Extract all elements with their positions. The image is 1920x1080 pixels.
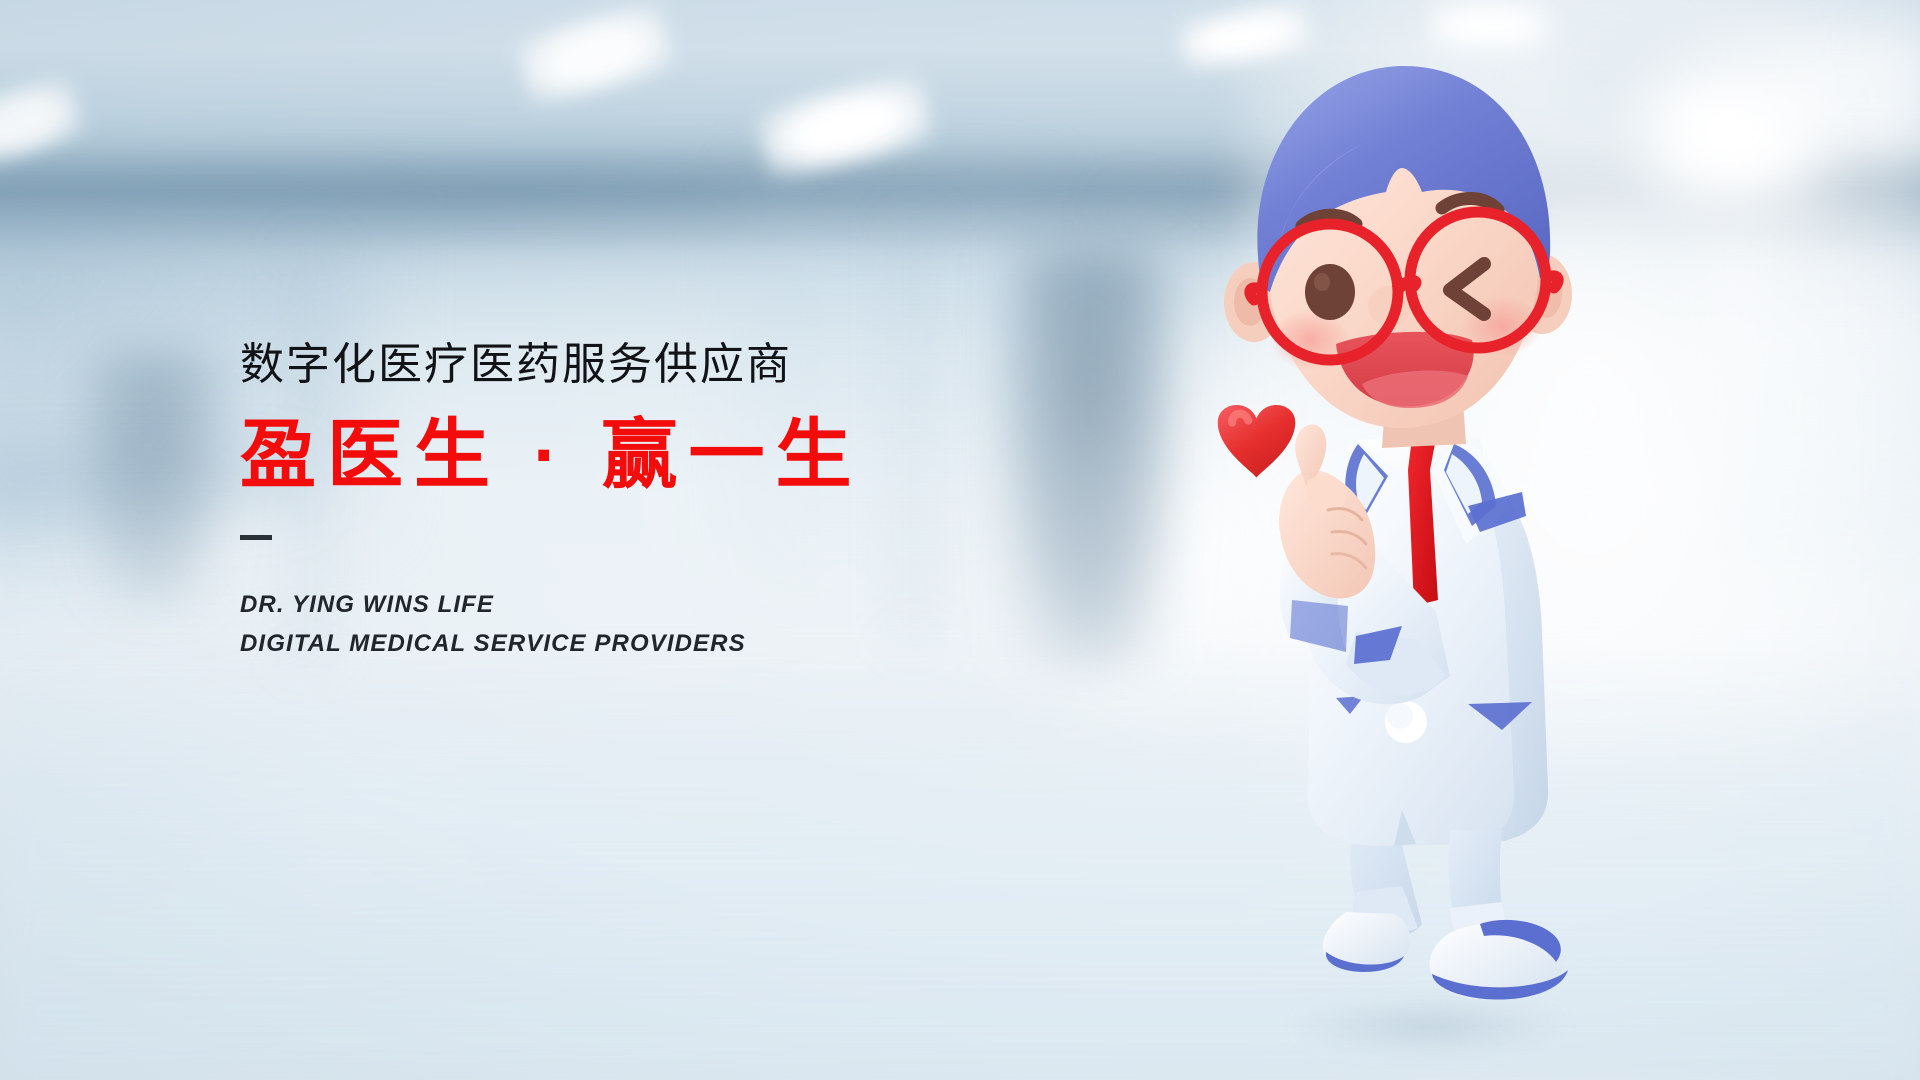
banner-divider-rule xyxy=(240,535,272,540)
banner-copy-block: 数字化医疗医药服务供应商 盈医生 · 赢一生 DR. YING WINS LIF… xyxy=(240,342,863,663)
mascot-head xyxy=(1224,66,1572,428)
mascot-front-shoe xyxy=(1430,920,1568,1001)
doctor-mascot-illustration xyxy=(1150,40,1710,1050)
floating-heart-icon xyxy=(1218,405,1296,478)
mascot-back-shoe xyxy=(1323,912,1411,972)
banner-english-line-2: DIGITAL MEDICAL SERVICE PROVIDERS xyxy=(240,625,863,664)
banner-headline: 盈医生 · 赢一生 xyxy=(240,415,863,497)
banner-stage: 数字化医疗医药服务供应商 盈医生 · 赢一生 DR. YING WINS LIF… xyxy=(0,0,1920,1080)
banner-english-line-1: DR. YING WINS LIFE xyxy=(240,586,863,625)
mascot-eye-open xyxy=(1305,264,1355,320)
banner-english-block: DR. YING WINS LIFE DIGITAL MEDICAL SERVI… xyxy=(240,586,863,664)
banner-tagline: 数字化医疗医药服务供应商 xyxy=(240,342,863,389)
